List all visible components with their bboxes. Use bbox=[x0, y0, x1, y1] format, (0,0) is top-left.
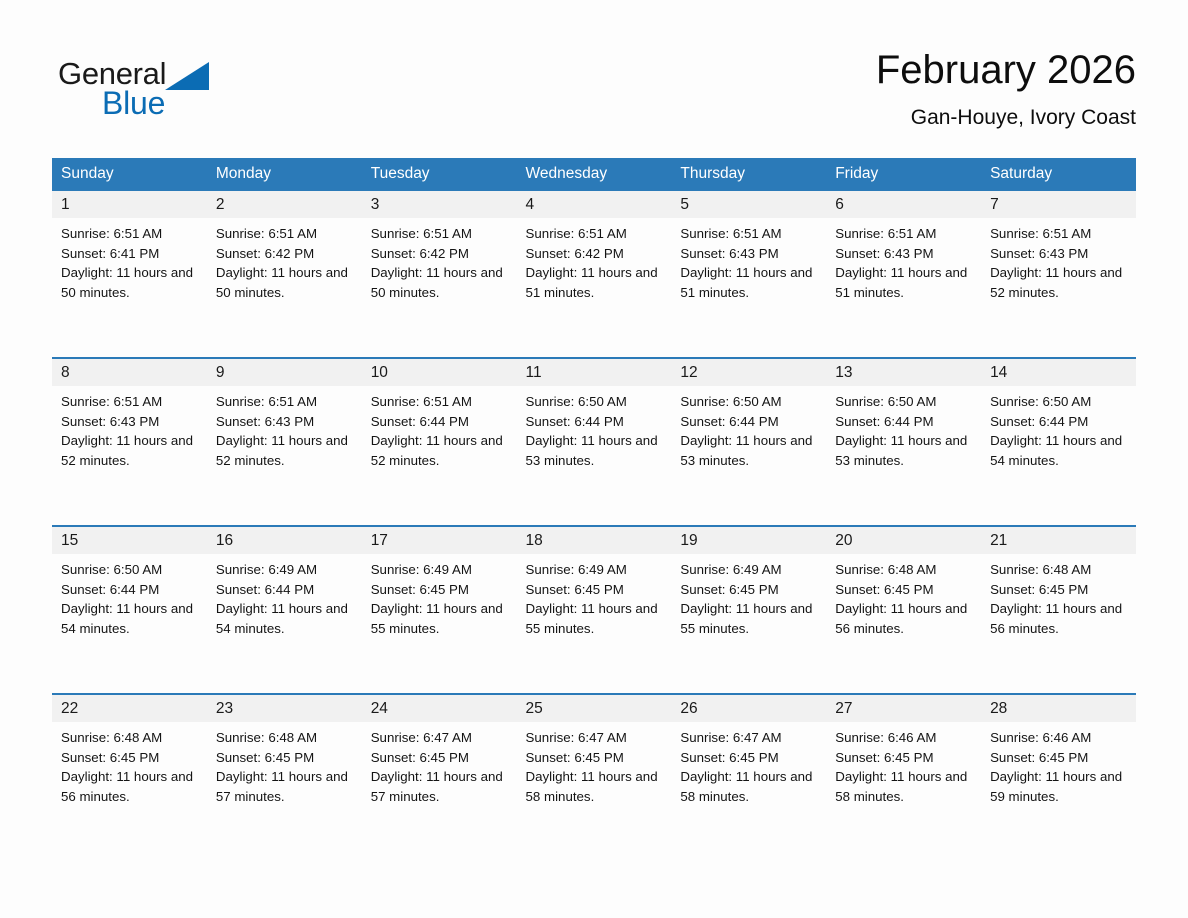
sunset-text: Sunset: 6:45 PM bbox=[990, 748, 1126, 768]
calendar-day-cell[interactable]: 14 Sunrise: 6:50 AM Sunset: 6:44 PM Dayl… bbox=[981, 358, 1136, 526]
calendar-day-cell[interactable]: 23 Sunrise: 6:48 AM Sunset: 6:45 PM Dayl… bbox=[207, 694, 362, 861]
sunset-text: Sunset: 6:43 PM bbox=[990, 244, 1126, 264]
sunset-text: Sunset: 6:45 PM bbox=[61, 748, 197, 768]
calendar-header-row: Sunday Monday Tuesday Wednesday Thursday… bbox=[52, 158, 1136, 191]
day-number: 10 bbox=[362, 359, 517, 386]
daylight-text: Daylight: 11 hours and 52 minutes. bbox=[371, 431, 507, 470]
sunrise-sunset-calendar: Sunday Monday Tuesday Wednesday Thursday… bbox=[52, 158, 1136, 861]
calendar-day-cell[interactable]: 12 Sunrise: 6:50 AM Sunset: 6:44 PM Dayl… bbox=[671, 358, 826, 526]
calendar-day-cell[interactable]: 7 Sunrise: 6:51 AM Sunset: 6:43 PM Dayli… bbox=[981, 191, 1136, 358]
daylight-text: Daylight: 11 hours and 56 minutes. bbox=[61, 767, 197, 806]
sunset-text: Sunset: 6:41 PM bbox=[61, 244, 197, 264]
sunset-text: Sunset: 6:43 PM bbox=[216, 412, 352, 432]
day-number: 3 bbox=[362, 191, 517, 218]
sunset-text: Sunset: 6:43 PM bbox=[835, 244, 971, 264]
day-number: 21 bbox=[981, 527, 1136, 554]
calendar-day-cell[interactable]: 28 Sunrise: 6:46 AM Sunset: 6:45 PM Dayl… bbox=[981, 694, 1136, 861]
sunrise-text: Sunrise: 6:47 AM bbox=[680, 728, 816, 748]
day-number: 28 bbox=[981, 695, 1136, 722]
daylight-text: Daylight: 11 hours and 54 minutes. bbox=[216, 599, 352, 638]
calendar-day-cell[interactable]: 21 Sunrise: 6:48 AM Sunset: 6:45 PM Dayl… bbox=[981, 526, 1136, 694]
daylight-text: Daylight: 11 hours and 57 minutes. bbox=[216, 767, 352, 806]
weekday-header-friday: Friday bbox=[826, 158, 981, 191]
day-number: 26 bbox=[671, 695, 826, 722]
sunset-text: Sunset: 6:44 PM bbox=[61, 580, 197, 600]
sunrise-text: Sunrise: 6:51 AM bbox=[526, 224, 662, 244]
daylight-text: Daylight: 11 hours and 53 minutes. bbox=[526, 431, 662, 470]
calendar-day-cell[interactable]: 2 Sunrise: 6:51 AM Sunset: 6:42 PM Dayli… bbox=[207, 191, 362, 358]
daylight-text: Daylight: 11 hours and 53 minutes. bbox=[835, 431, 971, 470]
day-details: Sunrise: 6:51 AM Sunset: 6:42 PM Dayligh… bbox=[207, 218, 362, 302]
day-number: 12 bbox=[671, 359, 826, 386]
calendar-day-cell[interactable]: 26 Sunrise: 6:47 AM Sunset: 6:45 PM Dayl… bbox=[671, 694, 826, 861]
sunrise-text: Sunrise: 6:49 AM bbox=[216, 560, 352, 580]
day-number: 13 bbox=[826, 359, 981, 386]
sunset-text: Sunset: 6:45 PM bbox=[371, 748, 507, 768]
sunrise-text: Sunrise: 6:51 AM bbox=[61, 224, 197, 244]
day-details: Sunrise: 6:51 AM Sunset: 6:43 PM Dayligh… bbox=[981, 218, 1136, 302]
sunset-text: Sunset: 6:45 PM bbox=[680, 580, 816, 600]
sunrise-text: Sunrise: 6:51 AM bbox=[216, 224, 352, 244]
day-details: Sunrise: 6:49 AM Sunset: 6:45 PM Dayligh… bbox=[362, 554, 517, 638]
sunrise-text: Sunrise: 6:50 AM bbox=[835, 392, 971, 412]
calendar-day-cell[interactable]: 25 Sunrise: 6:47 AM Sunset: 6:45 PM Dayl… bbox=[517, 694, 672, 861]
sunrise-text: Sunrise: 6:50 AM bbox=[61, 560, 197, 580]
sunrise-text: Sunrise: 6:51 AM bbox=[216, 392, 352, 412]
day-details: Sunrise: 6:49 AM Sunset: 6:45 PM Dayligh… bbox=[671, 554, 826, 638]
day-details: Sunrise: 6:47 AM Sunset: 6:45 PM Dayligh… bbox=[517, 722, 672, 806]
calendar-day-cell[interactable]: 4 Sunrise: 6:51 AM Sunset: 6:42 PM Dayli… bbox=[517, 191, 672, 358]
day-number: 22 bbox=[52, 695, 207, 722]
calendar-day-cell[interactable]: 11 Sunrise: 6:50 AM Sunset: 6:44 PM Dayl… bbox=[517, 358, 672, 526]
day-number: 19 bbox=[671, 527, 826, 554]
day-number: 6 bbox=[826, 191, 981, 218]
day-details: Sunrise: 6:46 AM Sunset: 6:45 PM Dayligh… bbox=[826, 722, 981, 806]
calendar-day-cell[interactable]: 16 Sunrise: 6:49 AM Sunset: 6:44 PM Dayl… bbox=[207, 526, 362, 694]
triangle-flag-icon bbox=[165, 62, 209, 90]
day-details: Sunrise: 6:51 AM Sunset: 6:43 PM Dayligh… bbox=[52, 386, 207, 470]
daylight-text: Daylight: 11 hours and 50 minutes. bbox=[61, 263, 197, 302]
sunrise-text: Sunrise: 6:48 AM bbox=[216, 728, 352, 748]
day-number: 4 bbox=[517, 191, 672, 218]
calendar-week-row: 15 Sunrise: 6:50 AM Sunset: 6:44 PM Dayl… bbox=[52, 526, 1136, 694]
day-number: 24 bbox=[362, 695, 517, 722]
sunset-text: Sunset: 6:45 PM bbox=[526, 748, 662, 768]
day-number: 25 bbox=[517, 695, 672, 722]
sunrise-text: Sunrise: 6:51 AM bbox=[61, 392, 197, 412]
sunset-text: Sunset: 6:42 PM bbox=[526, 244, 662, 264]
day-number: 9 bbox=[207, 359, 362, 386]
calendar-day-cell[interactable]: 24 Sunrise: 6:47 AM Sunset: 6:45 PM Dayl… bbox=[362, 694, 517, 861]
day-details: Sunrise: 6:51 AM Sunset: 6:41 PM Dayligh… bbox=[52, 218, 207, 302]
daylight-text: Daylight: 11 hours and 59 minutes. bbox=[990, 767, 1126, 806]
calendar-day-cell[interactable]: 1 Sunrise: 6:51 AM Sunset: 6:41 PM Dayli… bbox=[52, 191, 207, 358]
calendar-day-cell[interactable]: 15 Sunrise: 6:50 AM Sunset: 6:44 PM Dayl… bbox=[52, 526, 207, 694]
day-details: Sunrise: 6:51 AM Sunset: 6:43 PM Dayligh… bbox=[207, 386, 362, 470]
day-details: Sunrise: 6:51 AM Sunset: 6:43 PM Dayligh… bbox=[826, 218, 981, 302]
daylight-text: Daylight: 11 hours and 53 minutes. bbox=[680, 431, 816, 470]
calendar-day-cell[interactable]: 20 Sunrise: 6:48 AM Sunset: 6:45 PM Dayl… bbox=[826, 526, 981, 694]
daylight-text: Daylight: 11 hours and 58 minutes. bbox=[835, 767, 971, 806]
weekday-header-sunday: Sunday bbox=[52, 158, 207, 191]
sunrise-text: Sunrise: 6:51 AM bbox=[371, 224, 507, 244]
sunrise-text: Sunrise: 6:49 AM bbox=[371, 560, 507, 580]
day-number: 23 bbox=[207, 695, 362, 722]
daylight-text: Daylight: 11 hours and 57 minutes. bbox=[371, 767, 507, 806]
day-details: Sunrise: 6:50 AM Sunset: 6:44 PM Dayligh… bbox=[981, 386, 1136, 470]
title-block: February 2026 Gan-Houye, Ivory Coast bbox=[876, 48, 1136, 130]
daylight-text: Daylight: 11 hours and 55 minutes. bbox=[680, 599, 816, 638]
page-header: General Blue February 2026 Gan-Houye, Iv… bbox=[0, 0, 1188, 148]
sunrise-text: Sunrise: 6:49 AM bbox=[526, 560, 662, 580]
day-number: 1 bbox=[52, 191, 207, 218]
sunrise-text: Sunrise: 6:51 AM bbox=[371, 392, 507, 412]
sunrise-text: Sunrise: 6:51 AM bbox=[835, 224, 971, 244]
sunset-text: Sunset: 6:42 PM bbox=[371, 244, 507, 264]
day-details: Sunrise: 6:50 AM Sunset: 6:44 PM Dayligh… bbox=[671, 386, 826, 470]
day-details: Sunrise: 6:46 AM Sunset: 6:45 PM Dayligh… bbox=[981, 722, 1136, 806]
daylight-text: Daylight: 11 hours and 52 minutes. bbox=[990, 263, 1126, 302]
day-details: Sunrise: 6:47 AM Sunset: 6:45 PM Dayligh… bbox=[671, 722, 826, 806]
calendar-day-cell[interactable]: 10 Sunrise: 6:51 AM Sunset: 6:44 PM Dayl… bbox=[362, 358, 517, 526]
sunset-text: Sunset: 6:45 PM bbox=[371, 580, 507, 600]
daylight-text: Daylight: 11 hours and 55 minutes. bbox=[526, 599, 662, 638]
day-details: Sunrise: 6:50 AM Sunset: 6:44 PM Dayligh… bbox=[826, 386, 981, 470]
sunrise-text: Sunrise: 6:50 AM bbox=[990, 392, 1126, 412]
weekday-header-tuesday: Tuesday bbox=[362, 158, 517, 191]
day-number: 17 bbox=[362, 527, 517, 554]
calendar-day-cell[interactable]: 6 Sunrise: 6:51 AM Sunset: 6:43 PM Dayli… bbox=[826, 191, 981, 358]
calendar-day-cell[interactable]: 5 Sunrise: 6:51 AM Sunset: 6:43 PM Dayli… bbox=[671, 191, 826, 358]
sunrise-text: Sunrise: 6:47 AM bbox=[371, 728, 507, 748]
daylight-text: Daylight: 11 hours and 51 minutes. bbox=[526, 263, 662, 302]
sunrise-text: Sunrise: 6:46 AM bbox=[835, 728, 971, 748]
daylight-text: Daylight: 11 hours and 51 minutes. bbox=[835, 263, 971, 302]
daylight-text: Daylight: 11 hours and 54 minutes. bbox=[990, 431, 1126, 470]
day-number: 20 bbox=[826, 527, 981, 554]
calendar-page: General Blue February 2026 Gan-Houye, Iv… bbox=[0, 0, 1188, 918]
day-number: 14 bbox=[981, 359, 1136, 386]
daylight-text: Daylight: 11 hours and 58 minutes. bbox=[680, 767, 816, 806]
day-details: Sunrise: 6:51 AM Sunset: 6:42 PM Dayligh… bbox=[362, 218, 517, 302]
day-details: Sunrise: 6:49 AM Sunset: 6:45 PM Dayligh… bbox=[517, 554, 672, 638]
sunset-text: Sunset: 6:44 PM bbox=[835, 412, 971, 432]
day-number: 16 bbox=[207, 527, 362, 554]
day-number: 7 bbox=[981, 191, 1136, 218]
calendar-day-cell[interactable]: 18 Sunrise: 6:49 AM Sunset: 6:45 PM Dayl… bbox=[517, 526, 672, 694]
sunrise-text: Sunrise: 6:48 AM bbox=[990, 560, 1126, 580]
day-details: Sunrise: 6:51 AM Sunset: 6:42 PM Dayligh… bbox=[517, 218, 672, 302]
sunset-text: Sunset: 6:43 PM bbox=[680, 244, 816, 264]
sunrise-text: Sunrise: 6:51 AM bbox=[990, 224, 1126, 244]
day-number: 5 bbox=[671, 191, 826, 218]
daylight-text: Daylight: 11 hours and 56 minutes. bbox=[990, 599, 1126, 638]
calendar-day-cell[interactable]: 13 Sunrise: 6:50 AM Sunset: 6:44 PM Dayl… bbox=[826, 358, 981, 526]
calendar-day-cell[interactable]: 8 Sunrise: 6:51 AM Sunset: 6:43 PM Dayli… bbox=[52, 358, 207, 526]
calendar-day-cell[interactable]: 9 Sunrise: 6:51 AM Sunset: 6:43 PM Dayli… bbox=[207, 358, 362, 526]
sunrise-text: Sunrise: 6:48 AM bbox=[835, 560, 971, 580]
day-number: 15 bbox=[52, 527, 207, 554]
sunset-text: Sunset: 6:44 PM bbox=[990, 412, 1126, 432]
day-details: Sunrise: 6:50 AM Sunset: 6:44 PM Dayligh… bbox=[517, 386, 672, 470]
weekday-header-wednesday: Wednesday bbox=[517, 158, 672, 191]
day-number: 11 bbox=[517, 359, 672, 386]
weekday-header-thursday: Thursday bbox=[671, 158, 826, 191]
daylight-text: Daylight: 11 hours and 58 minutes. bbox=[526, 767, 662, 806]
daylight-text: Daylight: 11 hours and 51 minutes. bbox=[680, 263, 816, 302]
calendar-day-cell[interactable]: 17 Sunrise: 6:49 AM Sunset: 6:45 PM Dayl… bbox=[362, 526, 517, 694]
daylight-text: Daylight: 11 hours and 50 minutes. bbox=[216, 263, 352, 302]
sunrise-text: Sunrise: 6:47 AM bbox=[526, 728, 662, 748]
daylight-text: Daylight: 11 hours and 55 minutes. bbox=[371, 599, 507, 638]
sunrise-text: Sunrise: 6:50 AM bbox=[680, 392, 816, 412]
sunset-text: Sunset: 6:44 PM bbox=[680, 412, 816, 432]
sunset-text: Sunset: 6:45 PM bbox=[835, 748, 971, 768]
brand-name-blue: Blue bbox=[102, 87, 258, 119]
day-number: 27 bbox=[826, 695, 981, 722]
day-details: Sunrise: 6:48 AM Sunset: 6:45 PM Dayligh… bbox=[826, 554, 981, 638]
day-details: Sunrise: 6:48 AM Sunset: 6:45 PM Dayligh… bbox=[981, 554, 1136, 638]
sunset-text: Sunset: 6:45 PM bbox=[990, 580, 1126, 600]
sunrise-text: Sunrise: 6:48 AM bbox=[61, 728, 197, 748]
sunset-text: Sunset: 6:44 PM bbox=[216, 580, 352, 600]
brand-logo[interactable]: General Blue bbox=[58, 48, 258, 119]
day-details: Sunrise: 6:50 AM Sunset: 6:44 PM Dayligh… bbox=[52, 554, 207, 638]
daylight-text: Daylight: 11 hours and 50 minutes. bbox=[371, 263, 507, 302]
day-details: Sunrise: 6:51 AM Sunset: 6:43 PM Dayligh… bbox=[671, 218, 826, 302]
daylight-text: Daylight: 11 hours and 52 minutes. bbox=[61, 431, 197, 470]
weekday-header-saturday: Saturday bbox=[981, 158, 1136, 191]
sunset-text: Sunset: 6:44 PM bbox=[526, 412, 662, 432]
calendar-day-cell[interactable]: 3 Sunrise: 6:51 AM Sunset: 6:42 PM Dayli… bbox=[362, 191, 517, 358]
sunrise-text: Sunrise: 6:46 AM bbox=[990, 728, 1126, 748]
weekday-header-monday: Monday bbox=[207, 158, 362, 191]
sunset-text: Sunset: 6:45 PM bbox=[835, 580, 971, 600]
sunset-text: Sunset: 6:45 PM bbox=[216, 748, 352, 768]
day-details: Sunrise: 6:48 AM Sunset: 6:45 PM Dayligh… bbox=[52, 722, 207, 806]
calendar-day-cell[interactable]: 27 Sunrise: 6:46 AM Sunset: 6:45 PM Dayl… bbox=[826, 694, 981, 861]
page-title: February 2026 bbox=[876, 48, 1136, 92]
sunrise-text: Sunrise: 6:49 AM bbox=[680, 560, 816, 580]
sunset-text: Sunset: 6:43 PM bbox=[61, 412, 197, 432]
daylight-text: Daylight: 11 hours and 52 minutes. bbox=[216, 431, 352, 470]
day-details: Sunrise: 6:48 AM Sunset: 6:45 PM Dayligh… bbox=[207, 722, 362, 806]
sunrise-text: Sunrise: 6:51 AM bbox=[680, 224, 816, 244]
sunrise-text: Sunrise: 6:50 AM bbox=[526, 392, 662, 412]
sunset-text: Sunset: 6:42 PM bbox=[216, 244, 352, 264]
calendar-day-cell[interactable]: 19 Sunrise: 6:49 AM Sunset: 6:45 PM Dayl… bbox=[671, 526, 826, 694]
calendar-week-row: 22 Sunrise: 6:48 AM Sunset: 6:45 PM Dayl… bbox=[52, 694, 1136, 861]
sunset-text: Sunset: 6:45 PM bbox=[680, 748, 816, 768]
day-details: Sunrise: 6:47 AM Sunset: 6:45 PM Dayligh… bbox=[362, 722, 517, 806]
day-details: Sunrise: 6:51 AM Sunset: 6:44 PM Dayligh… bbox=[362, 386, 517, 470]
location-subtitle: Gan-Houye, Ivory Coast bbox=[876, 106, 1136, 130]
day-number: 8 bbox=[52, 359, 207, 386]
calendar-week-row: 1 Sunrise: 6:51 AM Sunset: 6:41 PM Dayli… bbox=[52, 191, 1136, 358]
daylight-text: Daylight: 11 hours and 54 minutes. bbox=[61, 599, 197, 638]
daylight-text: Daylight: 11 hours and 56 minutes. bbox=[835, 599, 971, 638]
calendar-day-cell[interactable]: 22 Sunrise: 6:48 AM Sunset: 6:45 PM Dayl… bbox=[52, 694, 207, 861]
day-details: Sunrise: 6:49 AM Sunset: 6:44 PM Dayligh… bbox=[207, 554, 362, 638]
calendar-body: 1 Sunrise: 6:51 AM Sunset: 6:41 PM Dayli… bbox=[52, 191, 1136, 861]
day-number: 2 bbox=[207, 191, 362, 218]
calendar-week-row: 8 Sunrise: 6:51 AM Sunset: 6:43 PM Dayli… bbox=[52, 358, 1136, 526]
sunset-text: Sunset: 6:45 PM bbox=[526, 580, 662, 600]
day-number: 18 bbox=[517, 527, 672, 554]
sunset-text: Sunset: 6:44 PM bbox=[371, 412, 507, 432]
